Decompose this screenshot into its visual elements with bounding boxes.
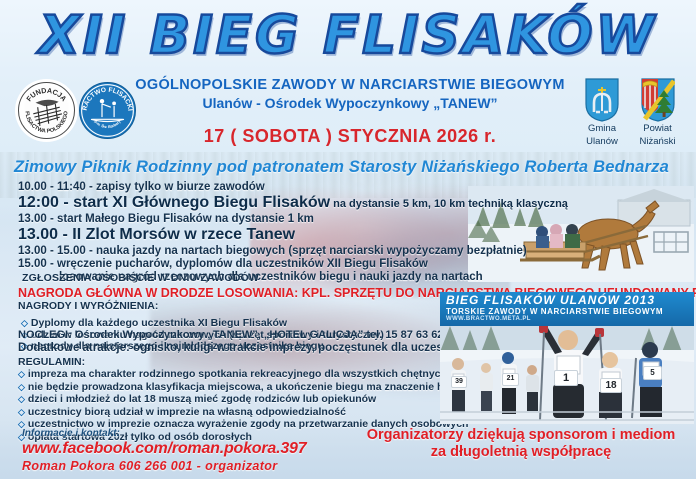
diamond-icon: ◇ (21, 318, 28, 328)
schedule-item: 13.00 - II Zlot Morsów w rzece Tanew (18, 226, 488, 244)
facebook-link[interactable]: www.facebook.com/roman.pokora.397 (22, 440, 306, 458)
registration-note: ZGŁOSZENIA OSOBIŚCIE W DNIU ZAWODÓW (22, 272, 259, 284)
sponsor-thanks-line2: za długoletnią współpracę (352, 444, 690, 461)
bib-number: 5 (643, 366, 662, 380)
diamond-icon: ◇ (18, 382, 25, 392)
race-banner-line1: BIEG FLISAKÓW ULANÓW 2013 (446, 293, 655, 307)
diamond-icon: ◇ (18, 369, 25, 379)
rules-item-label: uczestnicy biorą udział w imprezie na wł… (28, 406, 346, 418)
bib-number: 1 (554, 370, 578, 386)
schedule-list: 10.00 - 11:40 - zapisy tylko w biurze za… (18, 181, 488, 284)
race-banner-line3: WWW.BRACTWO.META.PL (446, 316, 531, 322)
page-title: XII BIEG FLISAKÓW (0, 8, 696, 64)
powiat-label-line1: Powiat (630, 124, 685, 135)
bib-number: 39 (451, 376, 467, 388)
diamond-icon: ◇ (18, 394, 25, 404)
gmina-shield-icon (585, 78, 619, 122)
contact-label: Informacje i kontakt: (22, 428, 120, 439)
awards-heading: NAGRODY I WYRÓŻNIENIA: (18, 300, 158, 312)
bib-number: 21 (502, 373, 519, 386)
powiat-shield-icon (641, 78, 675, 122)
organizer-contact: Roman Pokora 606 266 001 - organizator (22, 459, 278, 473)
sponsor-thanks: Organizatorzy dziękują sponsorom i medio… (352, 427, 690, 461)
crest-powiat-nizanski: Powiat Niżański (630, 78, 685, 147)
lodging-line: NOCLEGI: Ośrodek Wypoczynkowy „TANEW”, „… (18, 329, 450, 341)
extras-line: Dodatkowe atrakcje: ognisko, kuligi w tr… (18, 342, 513, 354)
schedule-item: 15.00 - wręczenie pucharów, dyplomów dla… (18, 258, 488, 270)
patron-line: Zimowy Piknik Rodzinny pod patronatem St… (14, 158, 674, 177)
subtitle-primary: OGÓLNOPOLSKIE ZAWODY W NARCIARSTWIE BIEG… (120, 77, 580, 93)
schedule-item: 13.00 - start Małego Biegu Flisaków na d… (18, 213, 488, 225)
subtitle-venue: Ulanów - Ośrodek Wypoczynkowy „TANEW” (120, 95, 580, 111)
rules-item: ◇dzieci i młodzież do lat 18 muszą mieć … (18, 393, 498, 406)
schedule-item: 13.00 - 15.00 - nauka jazdy na nartach b… (18, 245, 488, 257)
diamond-icon: ◇ (18, 407, 25, 417)
race-banner-line2: TORSKIE ZAWODY W NARCIARSTWIE BIEGOWYM (446, 307, 663, 316)
powiat-label-line2: Niżański (630, 137, 685, 148)
rules-item-label: dzieci i młodzież do lat 18 muszą mieć z… (28, 393, 376, 405)
rules-item: ◇nie będzie prowadzona klasyfikacja miej… (18, 381, 498, 394)
logo-fundacja-flisactwa: FUNDACJA FLISACTWA POLSKIEGO (18, 82, 75, 139)
photo-race-skiers: BIEG FLISAKÓW ULANÓW 2013 TORSKIE ZAWODY… (440, 292, 694, 424)
bib-number: 18 (600, 378, 622, 393)
rules-item: ◇impreza ma charakter rodzinnego spotkan… (18, 368, 498, 381)
rules-item-label: impreza ma charakter rodzinnego spotkani… (28, 368, 447, 380)
race-photo-banner: BIEG FLISAKÓW ULANÓW 2013 TORSKIE ZAWODY… (440, 292, 694, 326)
sponsor-thanks-line1: Organizatorzy dziękują sponsorom i medio… (352, 427, 690, 444)
rules-item: ◇uczestnicy biorą udział w imprezie na w… (18, 406, 498, 419)
rules-item-label: nie będzie prowadzona klasyfikacja miejs… (28, 381, 487, 393)
crest-gmina-ulanow: Gmina Ulanów (576, 78, 628, 147)
schedule-item: 10.00 - 11:40 - zapisy tylko w biurze za… (18, 181, 488, 193)
awards-item-label: Dyplomy dla każdego uczestnika XI Biegu … (31, 317, 287, 329)
gmina-label-line2: Ulanów (576, 137, 628, 148)
schedule-item-tail: na dystansie 5 km, 10 km techniką klasyc… (330, 198, 568, 210)
rules-heading: REGULAMIN: (18, 356, 85, 368)
gmina-label-line1: Gmina (576, 124, 628, 135)
fundacja-ring-text: FUNDACJA FLISACTWA POLSKIEGO (19, 83, 74, 138)
schedule-item: 12:00 - start XI Głównego Biegu Flisaków… (18, 194, 488, 212)
poster-canvas: XII BIEG FLISAKÓW FUNDACJA FLISACTWA POL… (0, 0, 696, 479)
schedule-item-main: 12:00 - start XI Głównego Biegu Flisaków (18, 194, 330, 211)
event-date: 17 ( SOBOTA ) STYCZNIA 2026 r. (120, 126, 580, 147)
